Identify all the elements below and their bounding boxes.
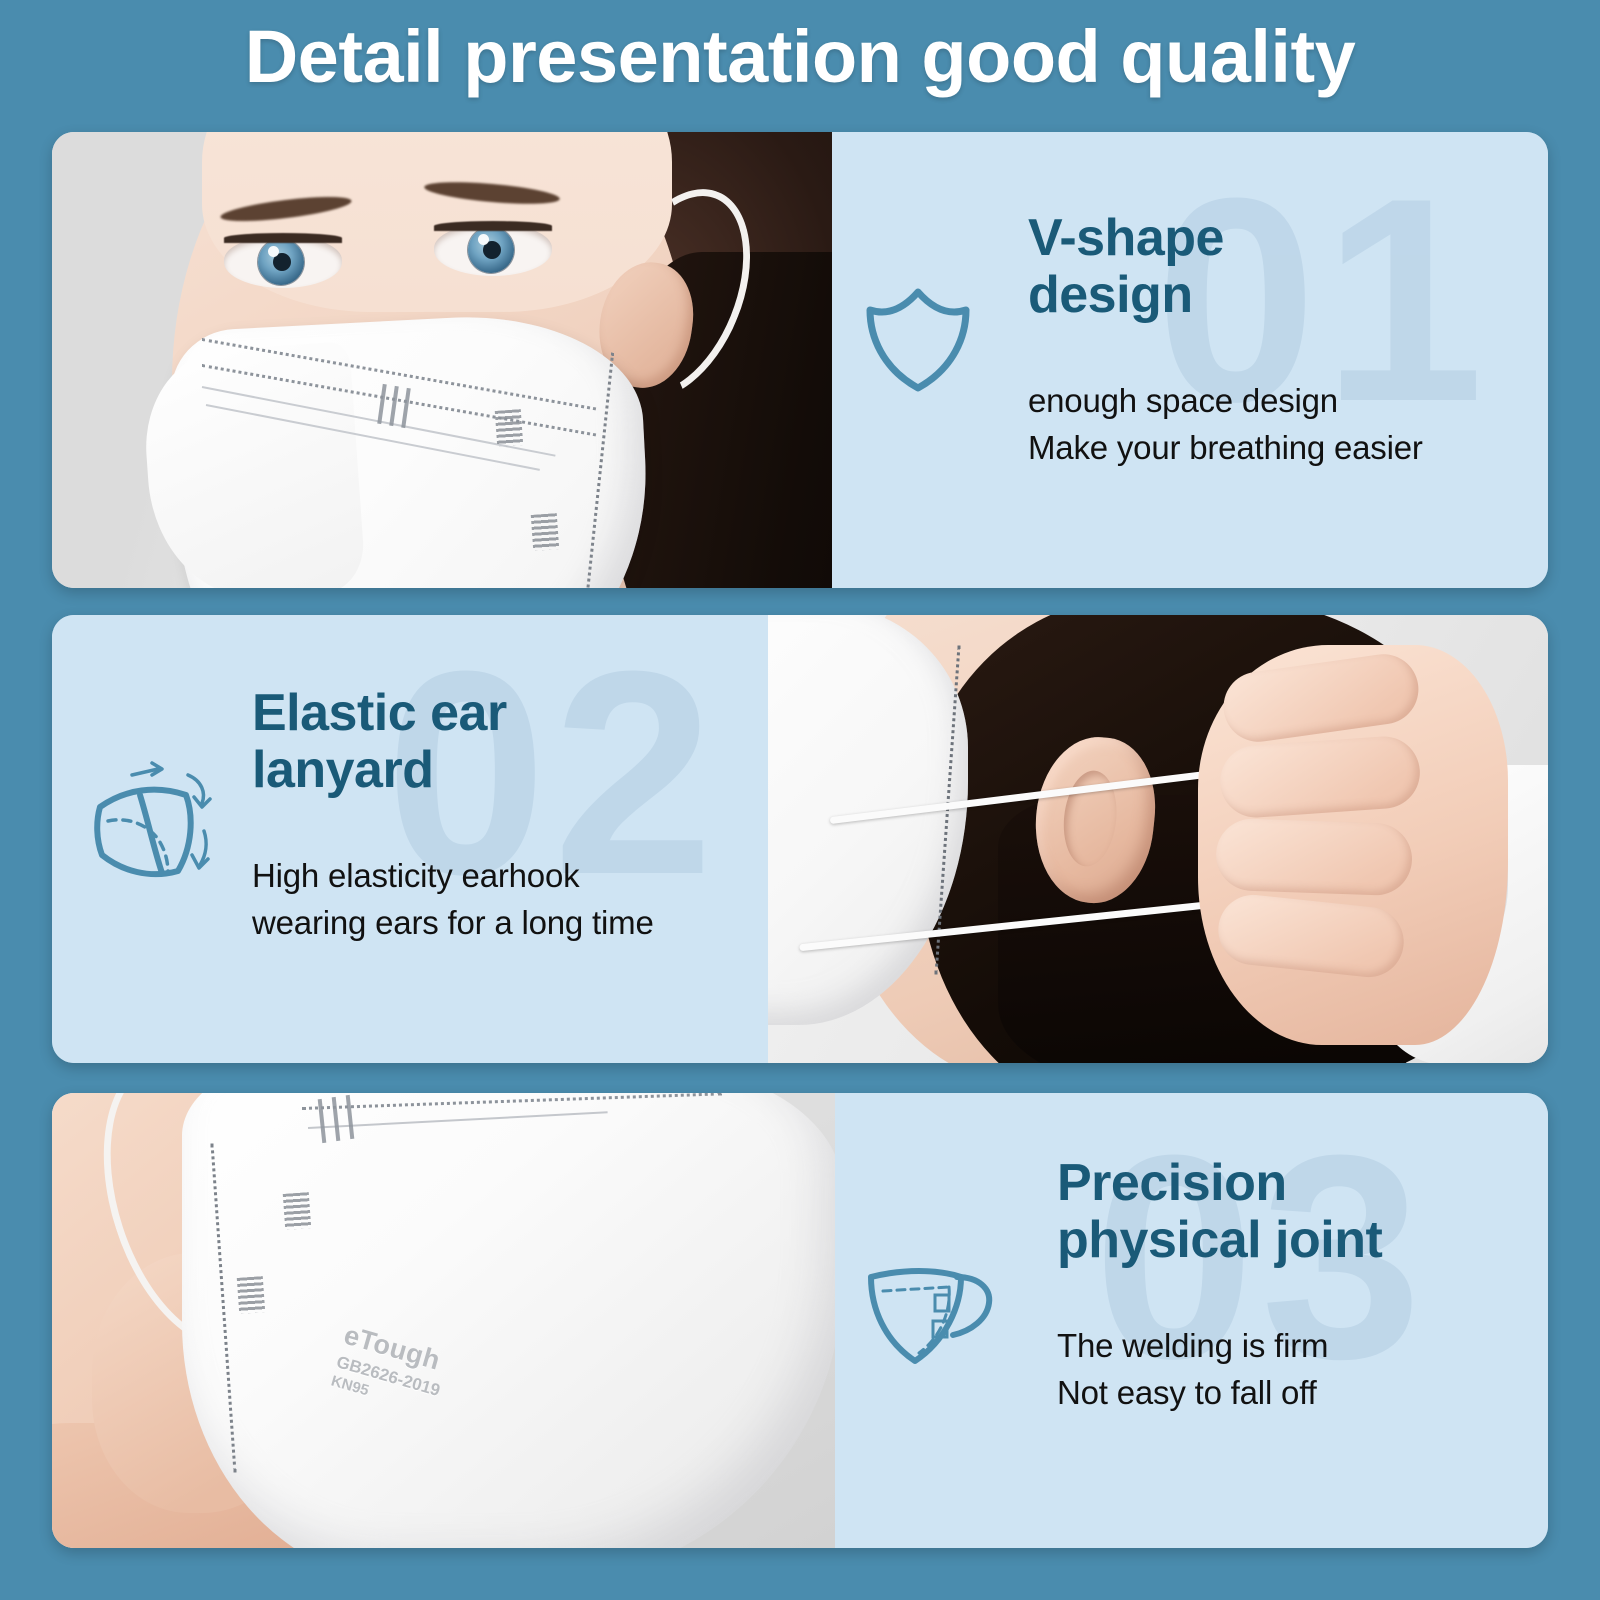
eye-glint <box>268 246 279 257</box>
finger <box>1218 734 1423 820</box>
shield-v-shape-icon <box>860 284 978 399</box>
weld-mark <box>283 1192 311 1230</box>
weld-mark <box>531 513 559 551</box>
folding-mask-arrows-icon <box>82 755 232 900</box>
weld-mark <box>495 409 523 447</box>
feature-photo-03: eTough GB2626-2019 KN95 <box>52 1093 835 1548</box>
feature-photo-01 <box>52 132 832 588</box>
feature-text-block-03: Precision physical joint The welding is … <box>1057 1155 1527 1417</box>
feature-text-block-01: V-shape design enough space design Make … <box>1028 210 1498 472</box>
iris <box>258 239 304 285</box>
feature-card-03: eTough GB2626-2019 KN95 03 Precision phy… <box>52 1093 1548 1548</box>
weld-mark <box>237 1276 265 1314</box>
feature-photo-02 <box>768 615 1548 1063</box>
feature-heading-02: Elastic ear lanyard <box>252 685 722 799</box>
face-mask <box>182 1093 835 1548</box>
feature-heading-01: V-shape design <box>1028 210 1498 324</box>
eye-left <box>224 236 342 288</box>
eyelash <box>434 221 552 231</box>
eye-right <box>434 224 552 276</box>
feature-body-02: High elasticity earhook wearing ears for… <box>252 853 722 947</box>
page-title: Detail presentation good quality <box>0 14 1600 99</box>
feature-card-01: 01 V-shape design enough space design Ma… <box>52 132 1548 588</box>
feature-text-01: 01 V-shape design enough space design Ma… <box>832 132 1548 588</box>
feature-heading-03: Precision physical joint <box>1057 1155 1527 1269</box>
mask-earloop-weld-icon <box>857 1253 997 1378</box>
face-mask-side-panel <box>140 341 367 588</box>
feature-text-02: 02 Elastic ear lanyard High elasticity e… <box>52 615 768 1063</box>
feature-body-01: enough space design Make your breathing … <box>1028 378 1498 472</box>
finger <box>1215 818 1413 897</box>
iris <box>468 227 514 273</box>
feature-card-02: 02 Elastic ear lanyard High elasticity e… <box>52 615 1548 1063</box>
feature-text-03: 03 Precision physical joint The welding … <box>835 1093 1548 1548</box>
eyelash <box>224 233 342 243</box>
feature-text-block-02: Elastic ear lanyard High elasticity earh… <box>252 685 722 947</box>
eye-glint <box>478 234 489 245</box>
feature-body-03: The welding is firm Not easy to fall off <box>1057 1323 1527 1417</box>
